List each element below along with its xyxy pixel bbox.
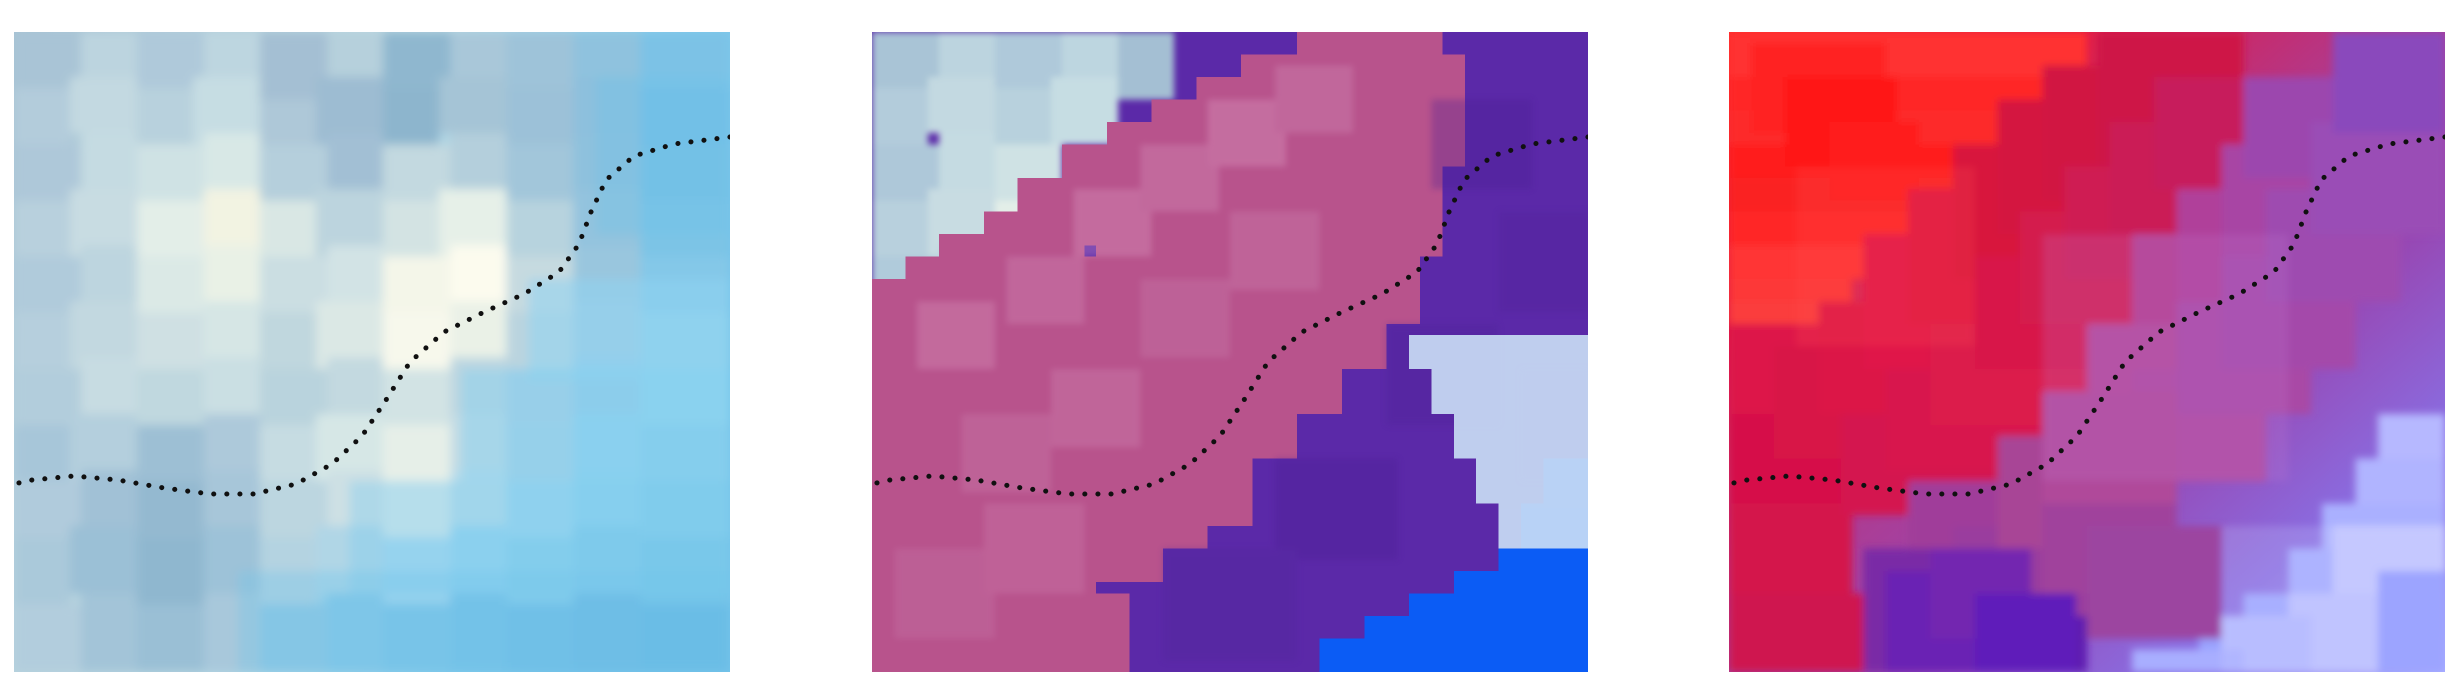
sar-raster-image <box>14 32 730 672</box>
figure-canvas: sar1601 <box>0 0 2460 687</box>
panel-sar1601[interactable]: sar1601 <box>14 32 730 672</box>
l5-raster-image <box>1729 32 2445 672</box>
panel-classification[interactable]: 1991-06-27-09-28-49 <box>872 32 1588 672</box>
panel-l5[interactable]: L5 <box>1729 32 2445 672</box>
classification-raster-image <box>872 32 1588 672</box>
